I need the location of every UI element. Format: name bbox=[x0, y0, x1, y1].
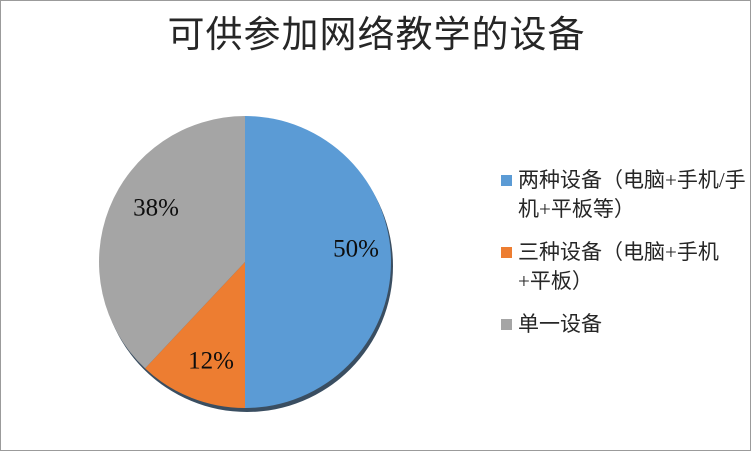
legend-label-two-devices: 两种设备（电脑+手机/手机+平板等） bbox=[518, 166, 746, 224]
legend-swatch-icon-single-device bbox=[501, 319, 512, 330]
legend-label-three-devices: 三种设备（电脑+手机+平板） bbox=[518, 238, 746, 296]
legend-item-two-devices[interactable]: 两种设备（电脑+手机/手机+平板等） bbox=[501, 166, 746, 224]
legend-item-single-device[interactable]: 单一设备 bbox=[501, 310, 746, 339]
legend-label-single-device: 单一设备 bbox=[518, 310, 602, 339]
legend-swatch-icon-two-devices bbox=[501, 175, 512, 186]
chart-legend: 两种设备（电脑+手机/手机+平板等） 三种设备（电脑+手机+平板） 单一设备 bbox=[501, 166, 746, 353]
legend-swatch-icon-three-devices bbox=[501, 247, 512, 258]
pie-chart-figure: 可供参加网络教学的设备 50% 12% 38% 两种设备（电脑+手机/手机+平板… bbox=[0, 0, 751, 451]
slice-label-three-devices: 12% bbox=[188, 349, 234, 374]
slice-label-two-devices: 50% bbox=[333, 237, 379, 262]
slice-label-single-device: 38% bbox=[133, 196, 179, 221]
pie-plot-area: 50% 12% 38% bbox=[99, 116, 391, 408]
legend-item-three-devices[interactable]: 三种设备（电脑+手机+平板） bbox=[501, 238, 746, 296]
chart-title: 可供参加网络教学的设备 bbox=[1, 13, 751, 59]
